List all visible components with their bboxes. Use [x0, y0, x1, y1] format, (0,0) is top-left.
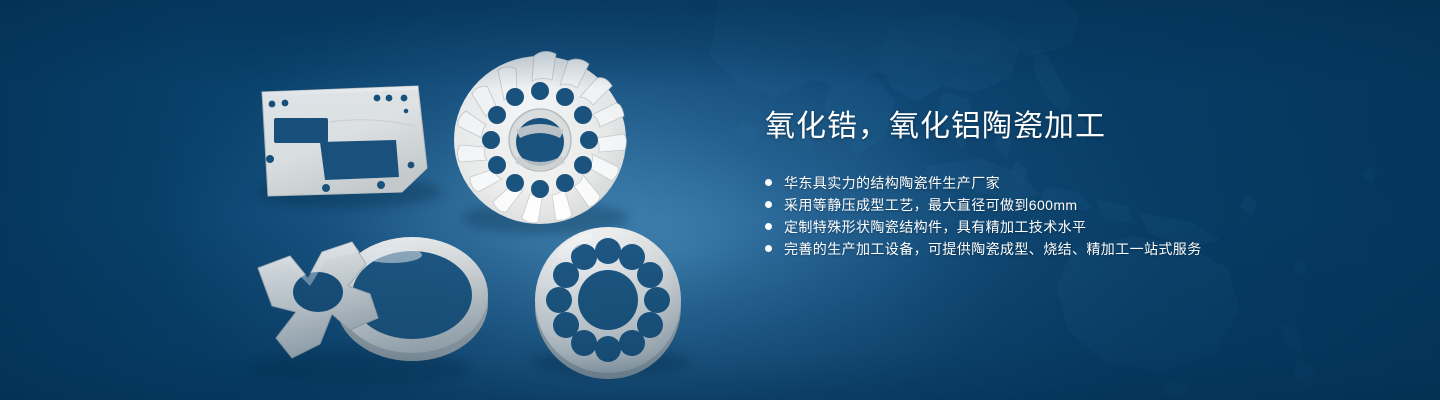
list-item-label: 采用等静压成型工艺，最大直径可做到600mm — [784, 194, 1077, 216]
bullet-dot-icon — [765, 201, 772, 208]
banner-copy: 氧化锆，氧化铝陶瓷加工 华东具实力的结构陶瓷件生产厂家 采用等静压成型工艺，最大… — [765, 108, 1385, 260]
list-item: 完善的生产加工设备，可提供陶瓷成型、烧结、精加工一站式服务 — [765, 238, 1385, 260]
list-item: 采用等静压成型工艺，最大直径可做到600mm — [765, 194, 1385, 216]
promo-banner: 氧化锆，氧化铝陶瓷加工 华东具实力的结构陶瓷件生产厂家 采用等静压成型工艺，最大… — [0, 0, 1440, 400]
feature-list: 华东具实力的结构陶瓷件生产厂家 采用等静压成型工艺，最大直径可做到600mm 定… — [765, 172, 1385, 260]
bullet-dot-icon — [765, 223, 772, 230]
list-item: 定制特殊形状陶瓷结构件，具有精加工技术水平 — [765, 216, 1385, 238]
page-title: 氧化锆，氧化铝陶瓷加工 — [765, 108, 1385, 146]
list-item-label: 定制特殊形状陶瓷结构件，具有精加工技术水平 — [784, 216, 1086, 238]
bullet-dot-icon — [765, 179, 772, 186]
bullet-dot-icon — [765, 245, 772, 252]
list-item-label: 完善的生产加工设备，可提供陶瓷成型、烧结、精加工一站式服务 — [784, 238, 1202, 260]
list-item-label: 华东具实力的结构陶瓷件生产厂家 — [784, 172, 1000, 194]
list-item: 华东具实力的结构陶瓷件生产厂家 — [765, 172, 1385, 194]
